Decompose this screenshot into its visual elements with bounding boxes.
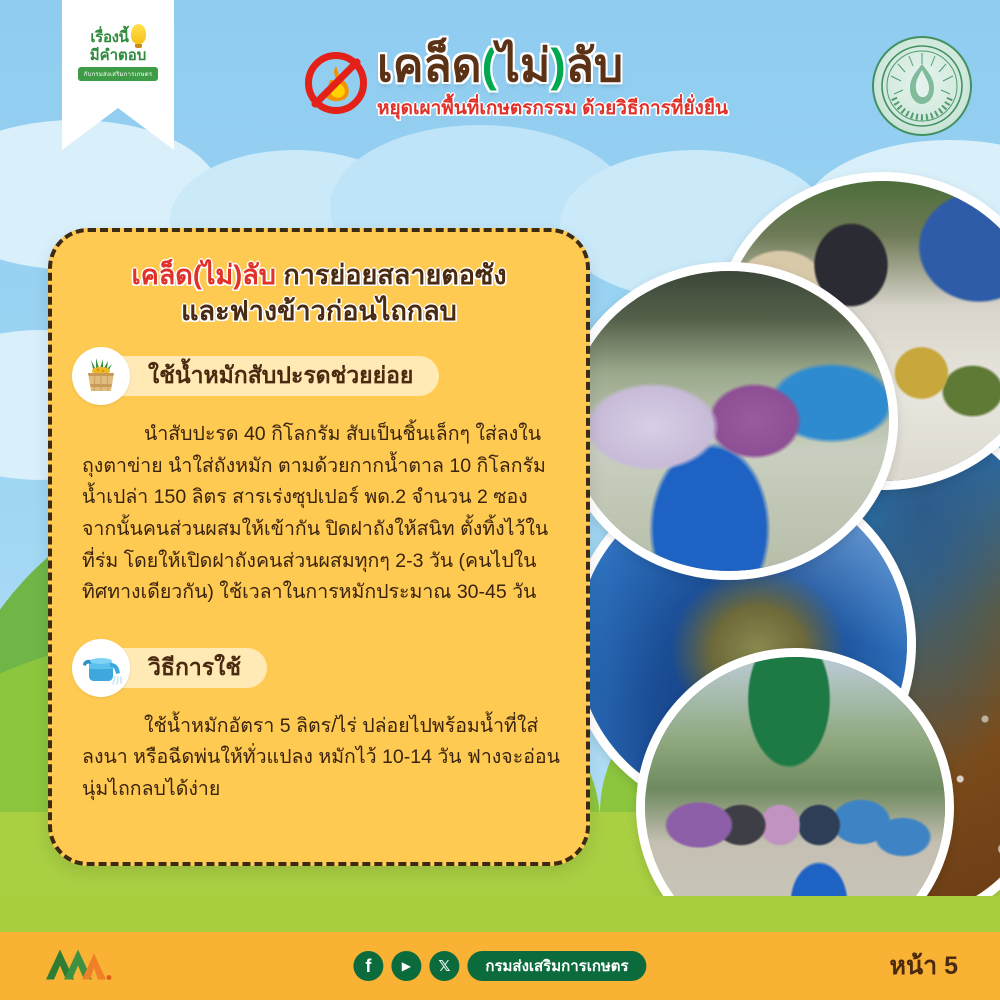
- doae-mountain-logo: [40, 946, 112, 987]
- brand-line2: มีคำตอบ: [90, 48, 147, 63]
- no-burning-icon: [305, 52, 367, 114]
- infographic-page: เรื่องนี้ มีคำตอบ กับกรมส่งเสริมการเกษตร…: [0, 0, 1000, 1000]
- card-title-line2: และฟางข้าวก่อนไถกลบ: [181, 296, 457, 326]
- watering-can-icon: [72, 639, 130, 697]
- header-subtitle: หยุดเผาพื้นที่เกษตรกรรม ด้วยวิธีการที่ยั…: [377, 93, 728, 123]
- footer-bar: f ▶ 𝕏 กรมส่งเสริมการเกษตร หน้า 5: [0, 932, 1000, 1000]
- footer-social-group: f ▶ 𝕏 กรมส่งเสริมการเกษตร: [353, 951, 646, 981]
- content-card: เคล็ด(ไม่)ลับ การย่อยสลายตอซัง และฟางข้า…: [48, 228, 590, 866]
- header-main-title: เคล็ด(ไม่)ลับ: [377, 42, 728, 88]
- brand-line1: เรื่องนี้: [90, 30, 128, 45]
- photo-collage: [588, 180, 1000, 920]
- section-body-text: ใช้น้ำหมักอัตรา 5 ลิตร/ไร่ ปล่อยไปพร้อมน…: [52, 697, 586, 806]
- header-title-paren-text: ไม่: [497, 39, 550, 91]
- section-label: วิธีการใช้: [148, 650, 241, 686]
- youtube-icon[interactable]: ▶: [391, 951, 421, 981]
- card-title: เคล็ด(ไม่)ลับ การย่อยสลายตอซัง และฟางข้า…: [52, 232, 586, 329]
- footer-green-band: [0, 896, 1000, 932]
- header-title-before: เคล็ด: [377, 39, 482, 91]
- section-pineapple-ferment: ใช้น้ำหมักสับปะรดช่วยย่อย: [52, 347, 586, 405]
- card-title-rest: การย่อยสลายตอซัง: [276, 260, 507, 290]
- organization-name[interactable]: กรมส่งเสริมการเกษตร: [467, 951, 646, 981]
- section-how-to-use: วิธีการใช้: [52, 639, 586, 697]
- card-title-highlight: เคล็ด(ไม่)ลับ: [131, 260, 275, 290]
- header-title-after: ลับ: [566, 39, 623, 91]
- photo-chopping-pineapple-into-barrel: [560, 262, 898, 580]
- header-title-block: เคล็ด(ไม่)ลับ หยุดเผาพื้นที่เกษตรกรรม ด้…: [305, 42, 728, 123]
- government-seal-icon: [872, 36, 972, 136]
- header-title-paren-close: ): [550, 39, 565, 91]
- section-label: ใช้น้ำหมักสับปะรดช่วยย่อย: [148, 358, 413, 394]
- brand-sub: กับกรมส่งเสริมการเกษตร: [78, 67, 159, 81]
- section-pill: ใช้น้ำหมักสับปะรดช่วยย่อย: [96, 356, 439, 396]
- facebook-icon[interactable]: f: [353, 951, 383, 981]
- pineapple-bucket-icon: [72, 347, 130, 405]
- section-body-text: นำสับปะรด 40 กิโลกรัม สับเป็นชิ้นเล็กๆ ใ…: [52, 405, 586, 608]
- header-title-paren-open: (: [482, 39, 497, 91]
- lightbulb-icon: [131, 24, 146, 44]
- page-number: หน้า 5: [890, 946, 958, 986]
- x-twitter-icon[interactable]: 𝕏: [429, 951, 459, 981]
